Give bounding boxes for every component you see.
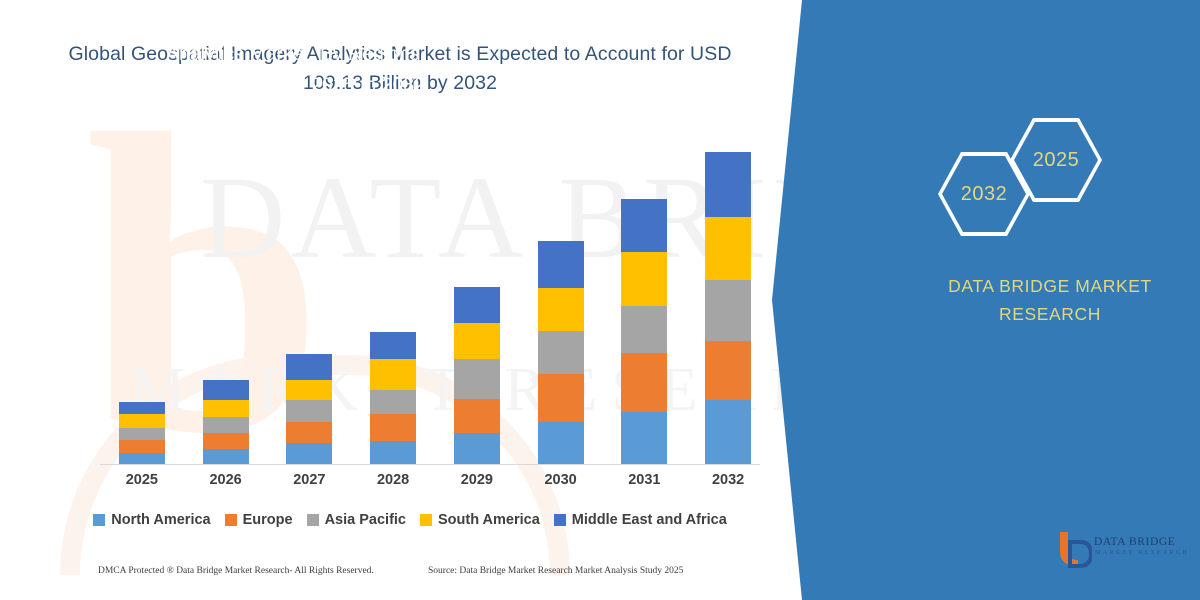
- bar-segment-north-america[interactable]: [454, 433, 500, 466]
- bar-segment-north-america[interactable]: [538, 422, 584, 465]
- bar-segment-south-america[interactable]: [538, 288, 584, 331]
- x-axis-label-2027: 2027: [274, 472, 344, 488]
- bar-segment-asia-pacific[interactable]: [454, 359, 500, 399]
- legend-item-europe[interactable]: Europe: [225, 512, 293, 528]
- legend-swatch-icon: [225, 514, 237, 526]
- company-logo: DATA BRIDGE MARKET RESEARCH: [1058, 530, 1188, 570]
- infographic-root: b DATA BRIDGE MARKET RESEARCH Global Geo…: [0, 0, 1200, 600]
- bar-segment-europe[interactable]: [203, 433, 249, 449]
- footer: DMCA Protected ® Data Bridge Market Rese…: [0, 566, 820, 590]
- bar-segment-south-america[interactable]: [203, 400, 249, 417]
- bar-stack-2025[interactable]: [119, 402, 165, 465]
- bar-segment-north-america[interactable]: [286, 443, 332, 465]
- bar-segment-asia-pacific[interactable]: [119, 428, 165, 439]
- bar-stack-2030[interactable]: [538, 241, 584, 465]
- bar-segment-asia-pacific[interactable]: [286, 400, 332, 422]
- bar-segment-middle-east-and-africa[interactable]: [538, 241, 584, 289]
- bar-segment-north-america[interactable]: [621, 412, 667, 465]
- legend-label: South America: [438, 512, 540, 528]
- legend-item-middle-east-and-africa[interactable]: Middle East and Africa: [554, 512, 727, 528]
- x-axis-label-2030: 2030: [526, 472, 596, 488]
- bar-segment-middle-east-and-africa[interactable]: [454, 287, 500, 323]
- bar-segment-middle-east-and-africa[interactable]: [203, 380, 249, 400]
- bar-segment-north-america[interactable]: [203, 449, 249, 465]
- bar-segment-middle-east-and-africa[interactable]: [286, 354, 332, 379]
- bar-segment-asia-pacific[interactable]: [705, 280, 751, 341]
- bar-segment-europe[interactable]: [538, 374, 584, 423]
- bar-stack-2026[interactable]: [203, 380, 249, 465]
- hexagon-end-year: 2032: [938, 152, 1030, 236]
- chart-legend: North AmericaEuropeAsia PacificSouth Ame…: [0, 512, 820, 528]
- bar-segment-asia-pacific[interactable]: [538, 331, 584, 374]
- bar-segment-europe[interactable]: [286, 422, 332, 442]
- logo-b-icon: [1058, 530, 1092, 568]
- hexagon-end-year-label: 2032: [961, 183, 1008, 206]
- x-axis-line: [100, 464, 760, 465]
- brand-panel-title: Global Geospatial Imagery Analytics Mark…: [150, 8, 425, 101]
- bar-segment-asia-pacific[interactable]: [621, 306, 667, 354]
- bar-stack-2032[interactable]: [705, 152, 751, 465]
- legend-label: North America: [111, 512, 210, 528]
- bar-segment-middle-east-and-africa[interactable]: [705, 152, 751, 217]
- bar-segment-middle-east-and-africa[interactable]: [621, 199, 667, 252]
- bar-segment-asia-pacific[interactable]: [370, 390, 416, 414]
- bar-segment-south-america[interactable]: [454, 323, 500, 360]
- brand-name: DATA BRIDGE MARKET RESEARCH: [900, 272, 1200, 328]
- x-axis-labels: 20252026202720282029203020312032: [100, 472, 770, 498]
- bar-segment-north-america[interactable]: [370, 441, 416, 465]
- x-axis-label-2028: 2028: [358, 472, 428, 488]
- bar-segment-europe[interactable]: [454, 399, 500, 433]
- bar-stack-2027[interactable]: [286, 354, 332, 465]
- x-axis-label-2026: 2026: [191, 472, 261, 488]
- bar-segment-europe[interactable]: [621, 353, 667, 412]
- x-axis-label-2029: 2029: [442, 472, 512, 488]
- bar-stack-2031[interactable]: [621, 199, 667, 465]
- x-axis-label-2025: 2025: [107, 472, 177, 488]
- bar-segment-south-america[interactable]: [370, 359, 416, 389]
- logo-text-primary: DATA BRIDGE: [1094, 536, 1175, 548]
- x-axis-label-2031: 2031: [609, 472, 679, 488]
- bar-segment-south-america[interactable]: [705, 217, 751, 280]
- legend-label: Middle East and Africa: [572, 512, 727, 528]
- legend-swatch-icon: [420, 514, 432, 526]
- hexagon-start-year-label: 2025: [1033, 149, 1080, 172]
- legend-swatch-icon: [307, 514, 319, 526]
- bar-segment-middle-east-and-africa[interactable]: [119, 402, 165, 414]
- bar-segment-europe[interactable]: [119, 440, 165, 453]
- x-axis-label-2032: 2032: [693, 472, 763, 488]
- legend-label: Asia Pacific: [325, 512, 406, 528]
- bar-segment-south-america[interactable]: [621, 252, 667, 306]
- bar-segment-south-america[interactable]: [119, 414, 165, 428]
- legend-swatch-icon: [93, 514, 105, 526]
- bar-segment-asia-pacific[interactable]: [203, 417, 249, 432]
- logo-text-secondary: MARKET RESEARCH: [1095, 550, 1189, 556]
- footer-source: Source: Data Bridge Market Research Mark…: [428, 566, 683, 576]
- bar-segment-north-america[interactable]: [705, 400, 751, 465]
- legend-item-north-america[interactable]: North America: [93, 512, 210, 528]
- stacked-bar-plot: [100, 140, 770, 465]
- bar-stack-2029[interactable]: [454, 287, 500, 465]
- legend-item-asia-pacific[interactable]: Asia Pacific: [307, 512, 406, 528]
- legend-item-south-america[interactable]: South America: [420, 512, 540, 528]
- bar-segment-south-america[interactable]: [286, 380, 332, 400]
- bar-stack-2028[interactable]: [370, 332, 416, 465]
- bar-segment-europe[interactable]: [705, 341, 751, 400]
- bar-segment-europe[interactable]: [370, 414, 416, 440]
- legend-label: Europe: [243, 512, 293, 528]
- bar-segment-middle-east-and-africa[interactable]: [370, 332, 416, 359]
- legend-swatch-icon: [554, 514, 566, 526]
- footer-copyright: DMCA Protected ® Data Bridge Market Rese…: [98, 566, 374, 576]
